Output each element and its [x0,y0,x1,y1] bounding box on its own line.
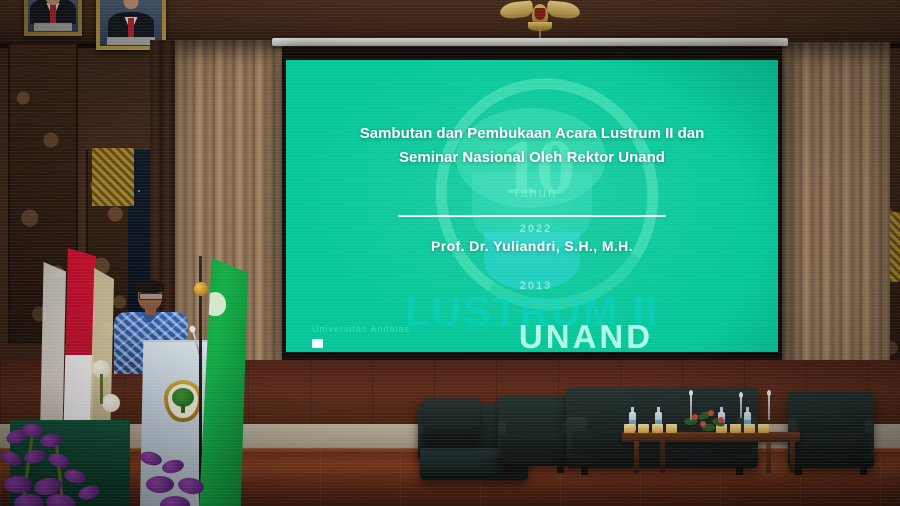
table-leg-inner-left [660,441,665,473]
eyeglasses-icon [139,293,163,300]
table-leg-left [634,441,639,473]
snack-box [652,424,663,433]
armchair-left-rear [424,398,480,442]
table-microphone [690,394,692,420]
snack-box [666,424,677,433]
snack-box [758,424,769,433]
andalas-university-crest-icon [164,380,202,422]
gold-carved-panel-left [92,148,134,206]
table-leg-inner-right [766,441,771,473]
table-leg-right [790,441,795,473]
presentation-slide: 10 tahun 2022 2013 LUSTRUM II Universita… [286,60,778,352]
snack-box [638,424,649,433]
projector-screen-roller [272,38,788,46]
projector-screen-frame: 10 tahun 2022 2013 LUSTRUM II Universita… [282,46,782,362]
snack-box [624,424,635,433]
armchair-right [788,392,874,468]
table-microphone [768,394,770,420]
flag-finial [194,282,208,296]
auditorium-photo: 10 tahun 2022 2013 LUSTRUM II Universita… [0,0,900,506]
vice-president-portrait [24,0,82,36]
garuda-pancasila-icon [498,0,582,32]
screen-glare [286,60,778,352]
armchair-center-left [498,396,570,466]
table-microphone [740,396,742,418]
snack-box [744,424,755,433]
